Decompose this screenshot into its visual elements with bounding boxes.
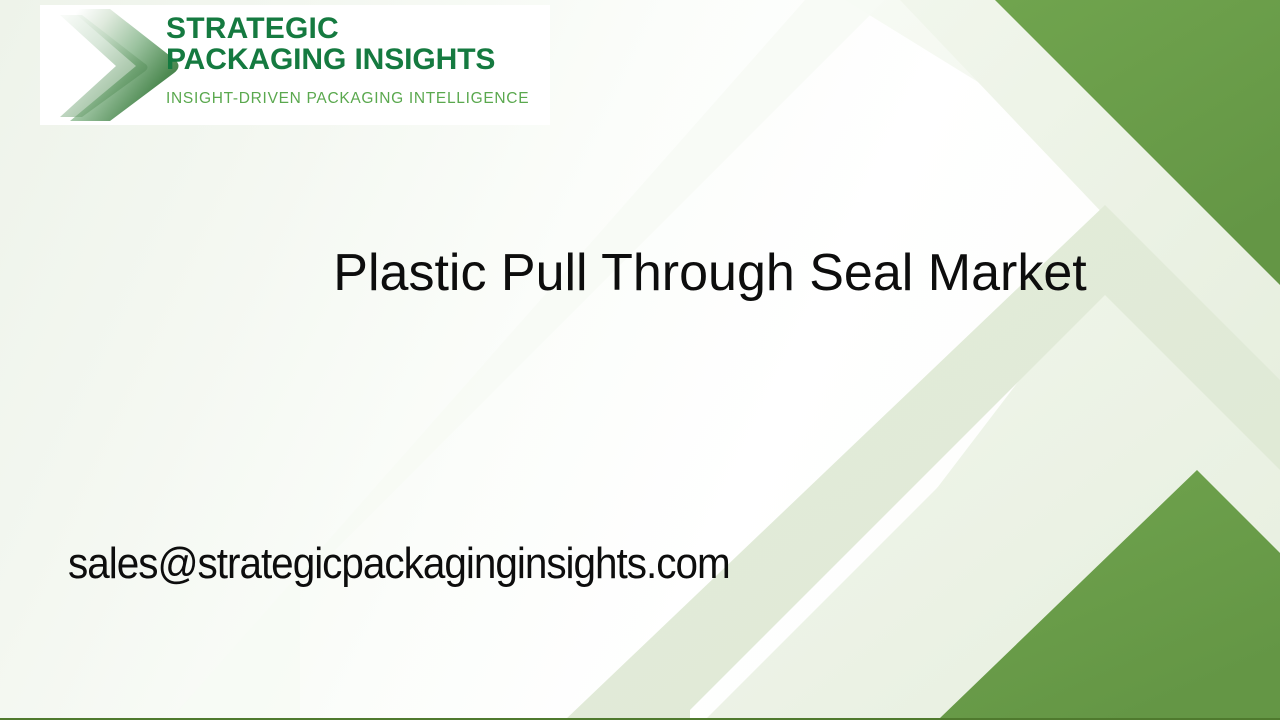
solid-green-bottom-triangle	[940, 470, 1280, 718]
chevron-band-mid-upper	[900, 0, 1280, 400]
contact-email: sales@strategicpackaginginsights.com	[68, 536, 730, 592]
slide-title: Plastic Pull Through Seal Market	[260, 248, 1160, 299]
logo-wordmark: STRATEGIC PACKAGING INSIGHTS INSIGHT-DRI…	[166, 13, 550, 108]
brand-logo: STRATEGIC PACKAGING INSIGHTS INSIGHT-DRI…	[40, 5, 550, 125]
logo-line-1: STRATEGIC	[166, 13, 550, 44]
chevron-band-outer	[820, 0, 1280, 720]
logo-line-2: PACKAGING INSIGHTS	[166, 44, 550, 75]
slide-canvas: STRATEGIC PACKAGING INSIGHTS INSIGHT-DRI…	[0, 0, 1280, 720]
chevron-band-lower-left	[705, 320, 1230, 720]
chevron-band-mid	[760, 268, 1280, 720]
logo-tagline: INSIGHT-DRIVEN PACKAGING INTELLIGENCE	[166, 90, 550, 108]
solid-green-top-right	[995, 0, 1280, 285]
